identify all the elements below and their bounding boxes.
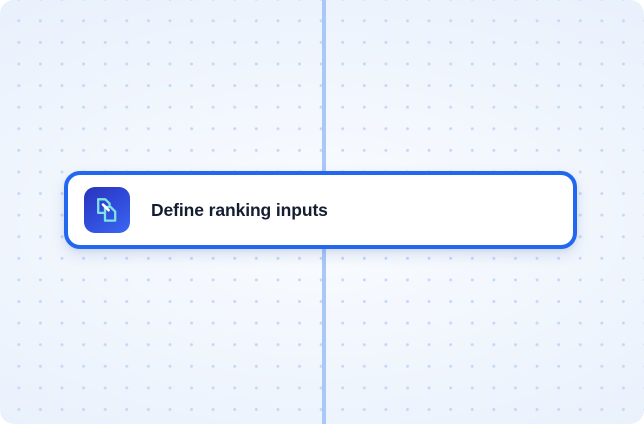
- node-card-define-ranking-inputs[interactable]: Define ranking inputs: [64, 171, 577, 249]
- canvas[interactable]: Define ranking inputs: [0, 0, 644, 424]
- node-title: Define ranking inputs: [151, 200, 328, 221]
- duplicate-pages-icon: [84, 187, 130, 233]
